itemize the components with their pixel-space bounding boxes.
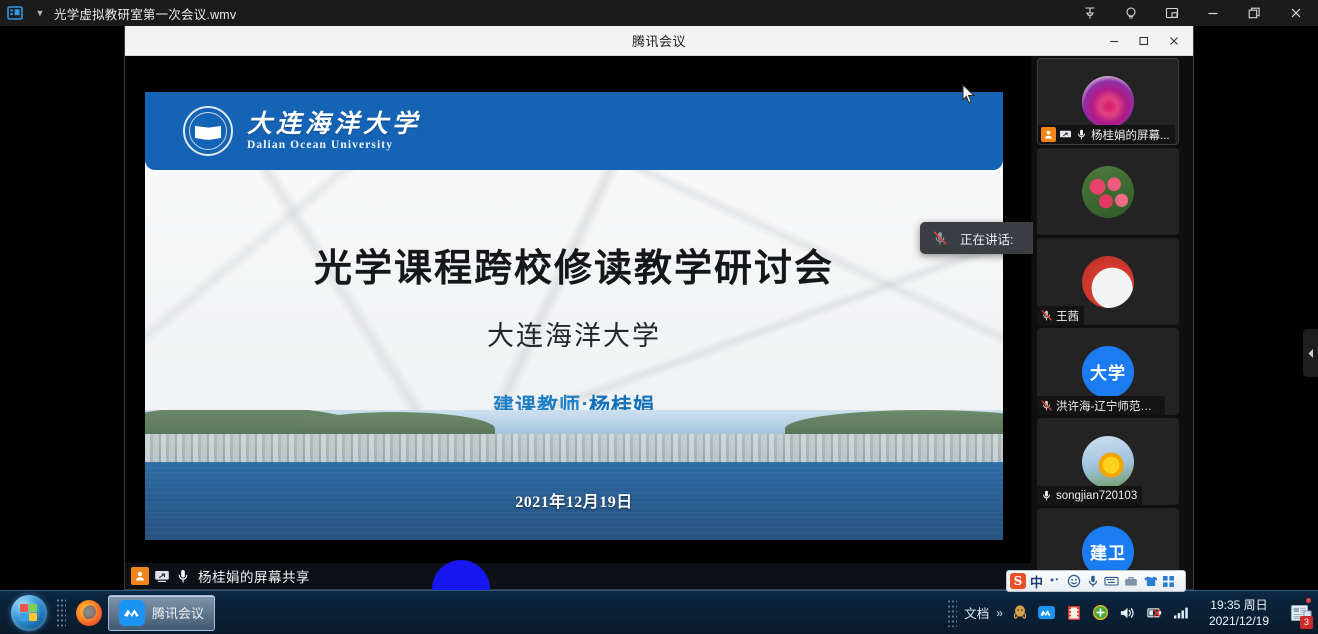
mic-icon xyxy=(175,568,191,584)
pin-icon[interactable] xyxy=(1069,0,1110,26)
participant-tile[interactable]: 杨桂娟的屏幕... xyxy=(1037,58,1179,145)
screen-share-owner: 杨桂娟的屏幕共享 xyxy=(198,566,310,586)
screen-share-status-bar: 杨桂娟的屏幕共享 xyxy=(125,563,1033,589)
screen-share-icon xyxy=(154,568,170,584)
slide-header-banner: 大连海洋大学 Dalian Ocean University xyxy=(145,92,1003,170)
university-name-en: Dalian Ocean University xyxy=(247,139,421,151)
video-capture-icon[interactable] xyxy=(1064,603,1084,623)
network-signal-icon[interactable] xyxy=(1172,603,1192,623)
mic-muted-icon xyxy=(1040,399,1053,412)
windows-logo-icon xyxy=(11,595,47,631)
punctuation-toggle-icon[interactable] xyxy=(1047,574,1062,589)
system-tray: 文档 » xyxy=(947,591,1318,634)
participant-tile[interactable]: 王茜 xyxy=(1037,238,1179,325)
mini-player-icon[interactable] xyxy=(1151,0,1192,26)
taskbar-item-firefox[interactable] xyxy=(70,595,108,631)
apps-grid-icon[interactable] xyxy=(1161,574,1176,589)
meeting-maximize-icon[interactable] xyxy=(1129,27,1159,55)
participant-name: 洪许海-辽宁师范大学 xyxy=(1056,398,1160,414)
tray-toolbar-label[interactable]: 文档 xyxy=(964,603,989,622)
soft-keyboard-icon[interactable] xyxy=(1104,574,1119,589)
university-seal-icon xyxy=(183,106,233,156)
participant-caption: 杨桂娟的屏幕... xyxy=(1038,125,1175,144)
slide-photo: 2021年12月19日 xyxy=(145,410,1003,540)
slide-date: 2021年12月19日 xyxy=(145,488,1003,512)
desktop-root: ▼ 光学虚拟教研室第一次会议.wmv xyxy=(0,0,1318,634)
taskbar-item-tencent-meeting[interactable]: 腾讯会议 xyxy=(108,595,215,631)
taskbar-clock[interactable]: 19:35 周日 2021/12/19 xyxy=(1199,597,1277,629)
screen-share-icon xyxy=(1059,128,1072,141)
maximize-icon[interactable] xyxy=(1233,0,1274,26)
video-library-icon[interactable] xyxy=(0,0,30,26)
toolbar-grip[interactable] xyxy=(56,598,66,628)
toolbox-icon[interactable] xyxy=(1123,574,1138,589)
tray-overflow-icon[interactable]: » xyxy=(996,606,1003,620)
slide-subtitle: 大连海洋大学 xyxy=(145,314,1003,353)
participant-name: 王茜 xyxy=(1056,308,1079,324)
avatar xyxy=(1082,256,1134,308)
battery-error-icon[interactable] xyxy=(1145,603,1165,623)
participant-tile[interactable]: songjian720103 xyxy=(1037,418,1179,505)
meeting-body: 大连海洋大学 Dalian Ocean University 光学课程跨校修读教… xyxy=(125,56,1193,589)
start-button[interactable] xyxy=(6,593,52,633)
mic-icon xyxy=(1075,128,1088,141)
host-badge-icon xyxy=(1041,127,1056,142)
tencent-meeting-window: 腾讯会议 xyxy=(124,26,1194,590)
participant-tile[interactable] xyxy=(1037,148,1179,235)
minimize-icon[interactable] xyxy=(1192,0,1233,26)
security-shield-icon[interactable] xyxy=(1091,603,1111,623)
avatar xyxy=(1082,76,1134,128)
participant-filmstrip[interactable]: 杨桂娟的屏幕... 王茜 xyxy=(1031,56,1193,589)
avatar xyxy=(1082,166,1134,218)
chevron-left-icon xyxy=(1307,348,1315,359)
participant-caption: 王茜 xyxy=(1037,306,1084,325)
presentation-slide: 大连海洋大学 Dalian Ocean University 光学课程跨校修读教… xyxy=(145,92,1003,540)
avatar: 大学 xyxy=(1082,346,1134,398)
player-title: 光学虚拟教研室第一次会议.wmv xyxy=(54,4,236,23)
qq-icon[interactable] xyxy=(1010,603,1030,623)
avatar xyxy=(1082,436,1134,488)
university-name-cn: 大连海洋大学 xyxy=(247,111,421,137)
participant-name: songjian720103 xyxy=(1056,490,1137,502)
firefox-icon xyxy=(76,600,102,626)
skin-icon[interactable] xyxy=(1142,574,1157,589)
speaking-now-toast: 正在讲话: xyxy=(920,222,1033,254)
ime-toolbar[interactable]: S 中 xyxy=(1006,570,1186,592)
sogou-logo-icon[interactable]: S xyxy=(1010,573,1026,589)
participant-name: 杨桂娟的屏幕... xyxy=(1091,127,1170,143)
participant-caption: songjian720103 xyxy=(1037,486,1142,505)
participant-caption: 洪许海-辽宁师范大学 xyxy=(1037,396,1165,415)
slide-title: 光学课程跨校修读教学研讨会 xyxy=(145,237,1003,292)
mic-muted-icon xyxy=(1040,309,1053,322)
meeting-minimize-icon[interactable] xyxy=(1099,27,1129,55)
notification-dot-icon xyxy=(1306,598,1311,603)
meeting-close-icon[interactable] xyxy=(1159,27,1189,55)
action-center-button[interactable]: 3 xyxy=(1284,591,1318,634)
shared-screen-stage[interactable]: 大连海洋大学 Dalian Ocean University 光学课程跨校修读教… xyxy=(125,56,1033,589)
mic-muted-icon xyxy=(932,230,948,246)
clock-date: 2021/12/19 xyxy=(1209,613,1269,629)
video-player-titlebar: ▼ 光学虚拟教研室第一次会议.wmv xyxy=(0,0,1318,26)
chevron-down-icon[interactable]: ▼ xyxy=(30,0,50,26)
action-center-badge: 3 xyxy=(1300,616,1313,629)
volume-icon[interactable] xyxy=(1118,603,1138,623)
meeting-titlebar: 腾讯会议 xyxy=(125,26,1193,56)
tencent-meeting-icon xyxy=(119,600,145,626)
tray-grip[interactable] xyxy=(947,599,957,627)
voice-input-icon[interactable] xyxy=(1085,574,1100,589)
photo-city-haze xyxy=(145,434,1003,462)
taskbar-item-label: 腾讯会议 xyxy=(152,603,204,622)
participant-tile[interactable]: 大学 洪许海-辽宁师范大学 xyxy=(1037,328,1179,415)
mouse-cursor xyxy=(962,84,978,106)
host-badge-icon xyxy=(131,567,149,585)
clock-time: 19:35 周日 xyxy=(1209,597,1269,613)
emoji-icon[interactable] xyxy=(1066,574,1081,589)
panel-collapse-handle[interactable] xyxy=(1303,329,1318,377)
meeting-window-title: 腾讯会议 xyxy=(632,31,686,50)
close-icon[interactable] xyxy=(1274,0,1318,26)
university-name-block: 大连海洋大学 Dalian Ocean University xyxy=(247,111,421,151)
ime-language-toggle[interactable]: 中 xyxy=(1030,572,1043,591)
windows-taskbar: 腾讯会议 文档 » xyxy=(0,590,1318,634)
tencent-meeting-tray-icon[interactable] xyxy=(1037,603,1057,623)
meeting-window-controls xyxy=(1099,26,1189,56)
lightbulb-icon[interactable] xyxy=(1110,0,1151,26)
speaking-now-label: 正在讲话: xyxy=(960,229,1013,248)
mic-icon xyxy=(1040,489,1053,502)
